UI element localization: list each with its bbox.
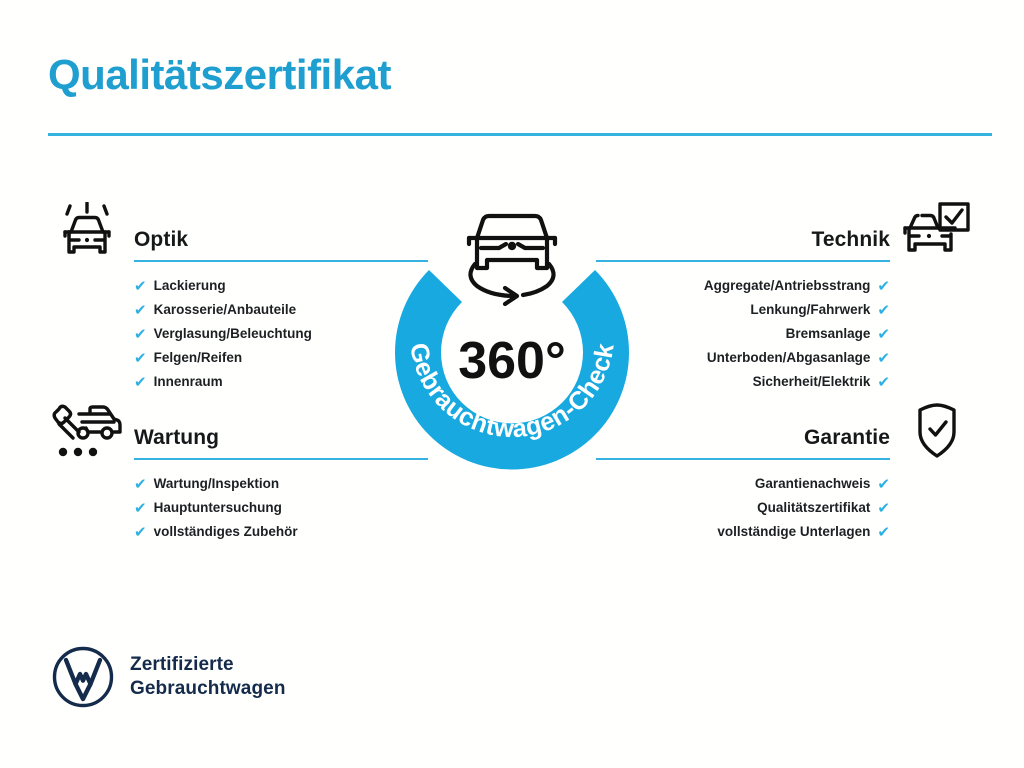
check-icon: ✔ — [134, 375, 147, 390]
list-item-label: Garantienachweis — [755, 472, 871, 496]
check-icon: ✔ — [877, 279, 890, 294]
list-item-label: Karosserie/Anbauteile — [154, 298, 297, 322]
section-optik-title: Optik — [134, 228, 188, 252]
list-item-label: Lenkung/Fahrwerk — [750, 298, 870, 322]
check-icon: ✔ — [134, 327, 147, 342]
certificate-page: Qualitätszertifikat — [0, 0, 1024, 768]
car-front-headlights-icon — [48, 202, 126, 266]
check-icon: ✔ — [134, 303, 147, 318]
list-item-label: Wartung/Inspektion — [154, 472, 280, 496]
list-item-label: Verglasung/Beleuchtung — [154, 322, 312, 346]
car-checkbox-icon — [898, 202, 976, 266]
check-icon: ✔ — [877, 375, 890, 390]
list-item-label: vollständige Unterlagen — [717, 520, 870, 544]
footer-brand-text: Zertifizierte Gebrauchtwagen — [130, 653, 286, 702]
footer-line-1: Zertifizierte — [130, 653, 286, 677]
list-item-label: vollständiges Zubehör — [154, 520, 298, 544]
check-icon: ✔ — [134, 501, 147, 516]
section-technik-title: Technik — [812, 228, 891, 252]
list-item-label: Innenraum — [154, 370, 223, 394]
check-icon: ✔ — [877, 525, 890, 540]
section-wartung-title: Wartung — [134, 426, 219, 450]
check-icon: ✔ — [134, 525, 147, 540]
list-item-label: Unterboden/Abgasanlage — [707, 346, 871, 370]
list-item-label: Hauptuntersuchung — [154, 496, 282, 520]
check-icon: ✔ — [877, 303, 890, 318]
check-icon: ✔ — [877, 477, 890, 492]
list-item-label: Lackierung — [154, 274, 226, 298]
check-icon: ✔ — [134, 351, 147, 366]
list-item: vollständige Unterlagen ✔ — [596, 520, 890, 544]
section-garantie-title: Garantie — [804, 426, 890, 450]
list-item-label: Aggregate/Antriebsstrang — [704, 274, 871, 298]
badge-center-value: 360° — [458, 332, 566, 390]
shield-check-icon — [898, 400, 976, 464]
check-icon: ✔ — [877, 351, 890, 366]
car-rotate-360-icon — [469, 216, 555, 304]
list-item-label: Sicherheit/Elektrik — [753, 370, 871, 394]
list-item: Qualitätszertifikat ✔ — [596, 496, 890, 520]
footer-line-2: Gebrauchtwagen — [130, 677, 286, 701]
list-item-label: Bremsanlage — [786, 322, 871, 346]
badge-360-gebrauchtwagen-check: Gebrauchtwagen-Check — [369, 192, 655, 492]
list-item: ✔ vollständiges Zubehör — [134, 520, 428, 544]
list-item: ✔ Hauptuntersuchung — [134, 496, 428, 520]
car-service-wrench-icon — [48, 400, 126, 464]
page-title: Qualitätszertifikat — [48, 52, 391, 98]
check-icon: ✔ — [134, 477, 147, 492]
volkswagen-logo-icon — [52, 646, 114, 708]
footer-brand: Zertifizierte Gebrauchtwagen — [52, 646, 286, 708]
check-icon: ✔ — [134, 279, 147, 294]
list-item-label: Qualitätszertifikat — [757, 496, 870, 520]
check-icon: ✔ — [877, 327, 890, 342]
header-divider — [48, 133, 992, 136]
check-icon: ✔ — [877, 501, 890, 516]
list-item-label: Felgen/Reifen — [154, 346, 243, 370]
